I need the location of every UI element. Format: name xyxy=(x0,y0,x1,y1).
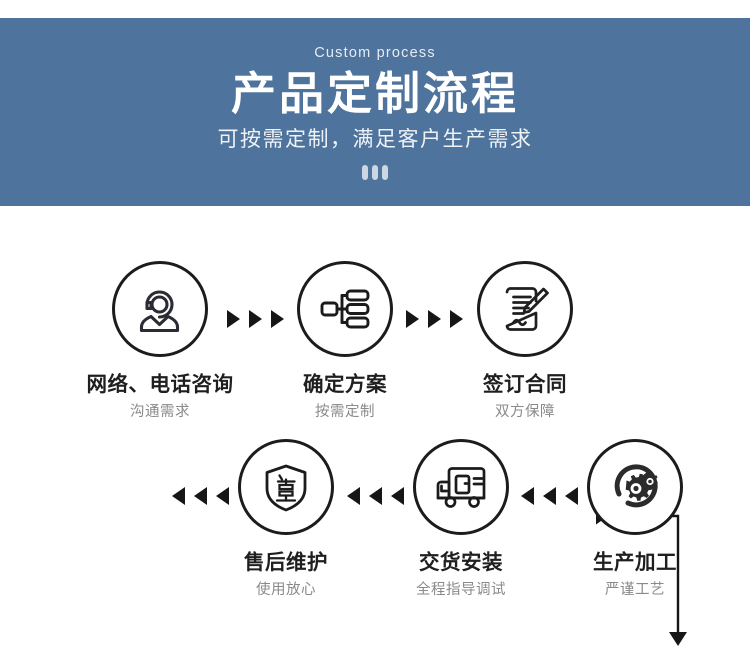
flow-step-after-sales[interactable]: 售后维护 使用放心 xyxy=(198,439,374,598)
flow-step-delivery[interactable]: 交货安装 全程指导调试 xyxy=(373,439,549,598)
contract-signing-icon xyxy=(496,280,554,338)
after-sales-shield-icon xyxy=(257,458,315,516)
gears-production-icon xyxy=(606,458,664,516)
step-title: 确定方案 xyxy=(257,373,433,397)
banner-dots-decoration xyxy=(362,165,388,180)
delivery-truck-icon xyxy=(432,458,490,516)
flow-step-plan[interactable]: 确定方案 按需定制 xyxy=(257,261,433,420)
step-title: 生产加工 xyxy=(547,551,723,575)
process-flow-area: 网络、电话咨询 沟通需求 xyxy=(0,206,750,657)
step-subtitle: 使用放心 xyxy=(198,582,374,599)
banner-dot xyxy=(362,165,368,180)
flowchart-plan-icon xyxy=(316,280,374,338)
banner-eyebrow: Custom process xyxy=(314,46,436,61)
step-title: 网络、电话咨询 xyxy=(72,373,248,397)
step-title: 签订合同 xyxy=(437,373,613,397)
triangle-left-icon xyxy=(347,487,360,505)
step-subtitle: 按需定制 xyxy=(257,404,433,421)
step-subtitle: 沟通需求 xyxy=(72,404,248,421)
customer-service-person-icon xyxy=(131,280,189,338)
step-icon-circle xyxy=(238,439,334,535)
banner-subtitle: 可按需定制，满足客户生产需求 xyxy=(218,128,533,151)
flow-step-consultation[interactable]: 网络、电话咨询 沟通需求 xyxy=(72,261,248,420)
step-icon-circle xyxy=(477,261,573,357)
step-icon-circle xyxy=(413,439,509,535)
triangle-left-icon xyxy=(521,487,534,505)
page-title: 产品定制流程 xyxy=(231,69,519,119)
banner-dot xyxy=(372,165,378,180)
step-subtitle: 双方保障 xyxy=(437,404,613,421)
flow-step-contract[interactable]: 签订合同 双方保障 xyxy=(437,261,613,420)
step-icon-circle xyxy=(297,261,393,357)
step-icon-circle xyxy=(112,261,208,357)
step-subtitle: 严谨工艺 xyxy=(547,582,723,599)
step-title: 交货安装 xyxy=(373,551,549,575)
step-title: 售后维护 xyxy=(198,551,374,575)
triangle-left-icon xyxy=(172,487,185,505)
page-root: Custom process 产品定制流程 可按需定制，满足客户生产需求 xyxy=(0,0,750,657)
flow-step-production[interactable]: 生产加工 严谨工艺 xyxy=(547,439,723,598)
banner-dot xyxy=(382,165,388,180)
step-icon-circle xyxy=(587,439,683,535)
step-subtitle: 全程指导调试 xyxy=(373,582,549,599)
header-banner: Custom process 产品定制流程 可按需定制，满足客户生产需求 xyxy=(0,18,750,206)
triangle-right-icon xyxy=(406,310,419,328)
triangle-right-icon xyxy=(227,310,240,328)
